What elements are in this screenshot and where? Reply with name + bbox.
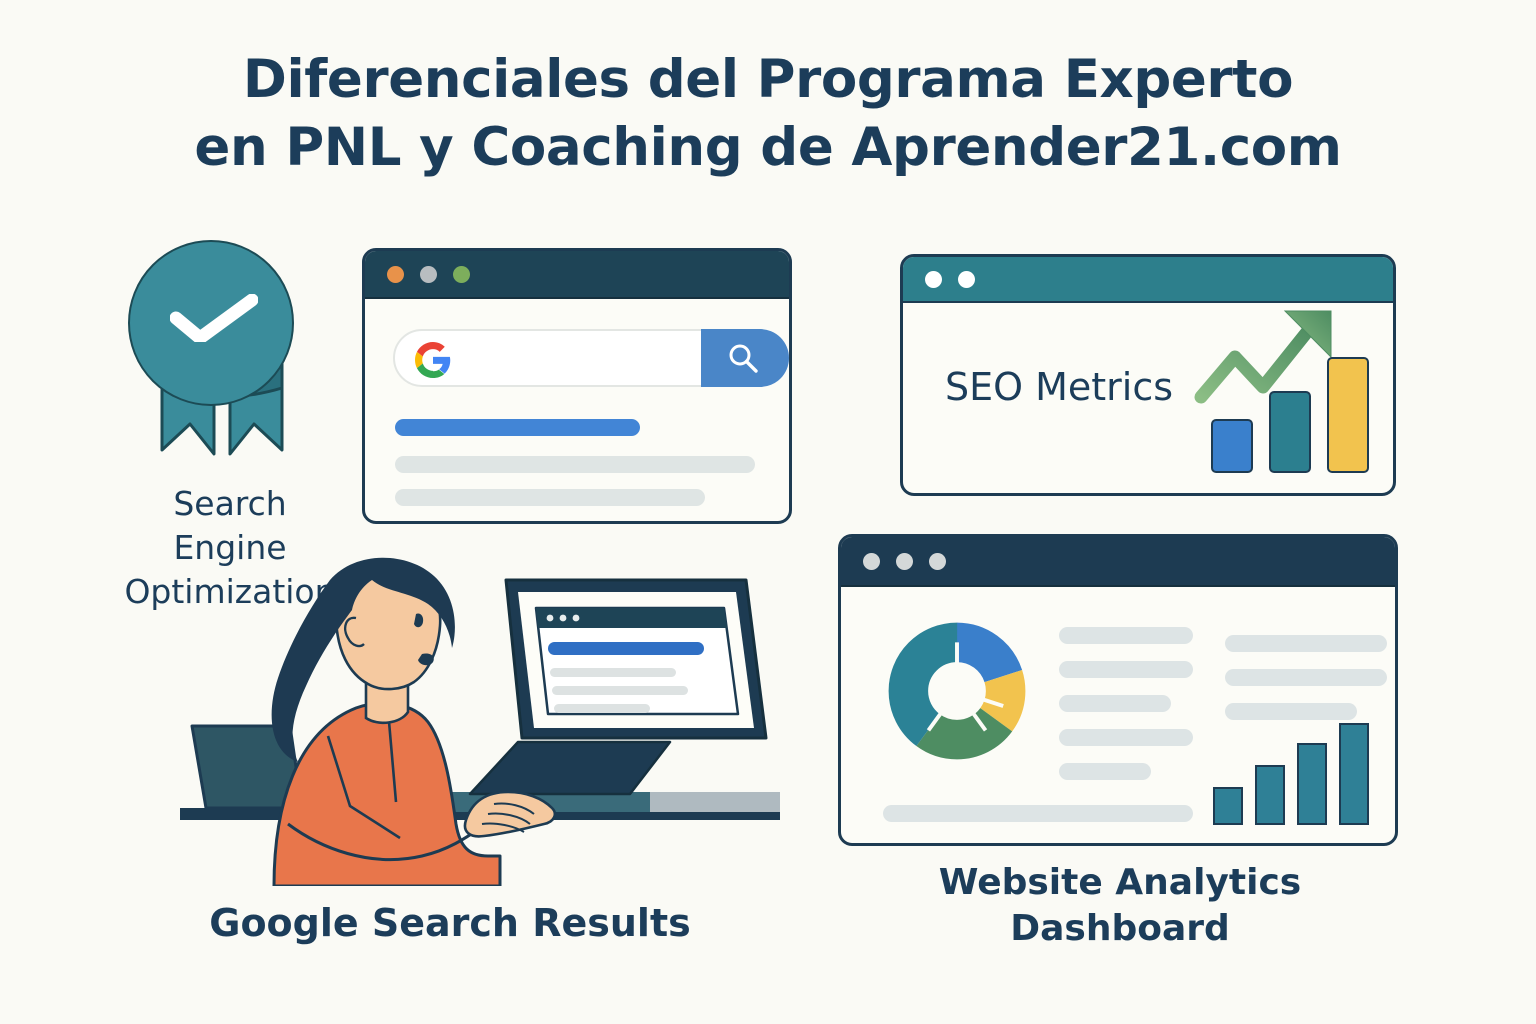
desk-surface-highlight	[650, 792, 780, 812]
search-button[interactable]	[701, 329, 789, 387]
seo-bar-3	[1327, 357, 1369, 473]
placeholder-line	[883, 805, 1193, 822]
google-logo-icon	[415, 342, 451, 378]
search-icon	[726, 342, 760, 376]
laptop-base	[470, 742, 670, 794]
placeholder-line	[1225, 635, 1387, 652]
page-title-line-2: en PNL y Coaching de Aprender21.com	[0, 114, 1536, 182]
dashboard-panel-caption: Website Analytics Dashboard	[880, 860, 1360, 952]
analytics-bar-2	[1255, 765, 1285, 825]
placeholder-line	[1059, 695, 1171, 712]
window-titlebar	[903, 257, 1393, 303]
analytics-dashboard-window[interactable]	[838, 534, 1398, 846]
seo-bar-2	[1269, 391, 1311, 473]
search-bar[interactable]	[393, 329, 763, 387]
badge-circle	[128, 240, 294, 406]
placeholder-line	[1059, 661, 1193, 678]
window-dot-2[interactable]	[958, 271, 975, 288]
minimize-dot[interactable]	[420, 266, 437, 283]
dashboard-caption-line-1: Website Analytics	[880, 860, 1360, 906]
seo-metrics-bar-chart	[1193, 305, 1393, 485]
close-dot[interactable]	[387, 266, 404, 283]
placeholder-line	[1059, 729, 1193, 746]
analytics-donut-chart	[881, 615, 1033, 767]
result-snippet-line-2	[395, 489, 705, 506]
woman-at-laptop-illustration	[170, 556, 790, 886]
badge-label-line-1: Search	[110, 482, 350, 526]
analytics-bar-1	[1213, 787, 1243, 825]
page-title-line-1: Diferenciales del Programa Experto	[0, 46, 1536, 114]
google-search-window[interactable]	[362, 248, 792, 524]
checkmark-icon	[170, 294, 258, 342]
window-titlebar	[841, 537, 1395, 587]
result-title-line	[395, 419, 640, 436]
analytics-bar-4	[1339, 723, 1369, 825]
maximize-dot[interactable]	[453, 266, 470, 283]
window-dot-3[interactable]	[929, 553, 946, 570]
analytics-bar-3	[1297, 743, 1327, 825]
window-dot-2[interactable]	[896, 553, 913, 570]
dashboard-caption-line-2: Dashboard	[880, 906, 1360, 952]
result-snippet-line-1	[395, 456, 755, 473]
seo-metrics-heading: SEO Metrics	[945, 365, 1173, 409]
infographic-canvas: Diferenciales del Programa Experto en PN…	[0, 0, 1536, 1024]
laptop-browser-window	[536, 608, 738, 714]
window-titlebar	[365, 251, 789, 299]
seo-metrics-window[interactable]: SEO Metrics	[900, 254, 1396, 496]
search-input[interactable]	[393, 329, 703, 387]
page-title: Diferenciales del Programa Experto en PN…	[0, 46, 1536, 182]
window-dot-1[interactable]	[925, 271, 942, 288]
window-dot-1[interactable]	[863, 553, 880, 570]
placeholder-line	[1059, 763, 1151, 780]
placeholder-line	[1225, 703, 1357, 720]
google-panel-caption: Google Search Results	[150, 900, 750, 946]
placeholder-line	[1059, 627, 1193, 644]
seo-bar-1	[1211, 419, 1253, 473]
placeholder-line	[1225, 669, 1387, 686]
seo-badge-group: Search Engine Optimization	[110, 232, 350, 612]
